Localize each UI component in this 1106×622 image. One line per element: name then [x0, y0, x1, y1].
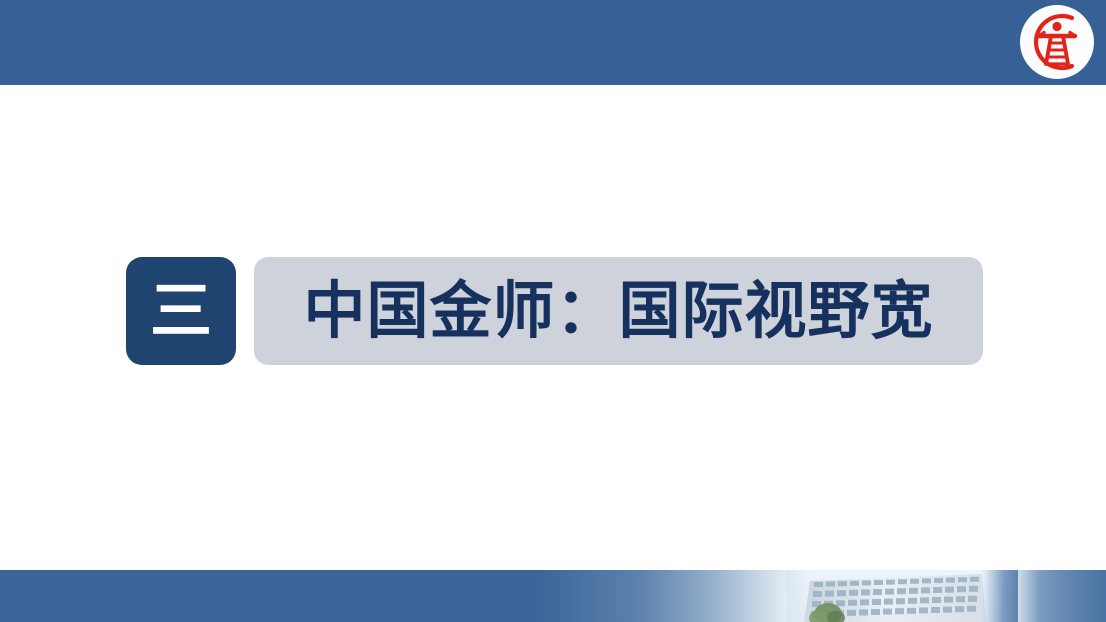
building-photo-svg — [786, 570, 1018, 622]
top-banner — [0, 0, 1106, 85]
section-title-pill: 中国金师：国际视野宽 — [254, 257, 983, 365]
ministry-building-photo — [786, 570, 1018, 622]
presentation-slide: 三 中国金师：国际视野宽 — [0, 0, 1106, 622]
section-number-badge: 三 — [126, 257, 236, 365]
section-number-label: 三 — [150, 280, 212, 342]
footer-bar: 中华人民共和国教育部 Ministry of Education of the … — [0, 570, 1106, 622]
section-heading: 三 中国金师：国际视野宽 — [126, 257, 983, 365]
slide-body: 三 中国金师：国际视野宽 — [0, 85, 1106, 570]
university-logo — [1020, 5, 1094, 79]
section-title-text: 中国金师：国际视野宽 — [303, 280, 933, 342]
university-emblem-icon — [1020, 5, 1094, 79]
